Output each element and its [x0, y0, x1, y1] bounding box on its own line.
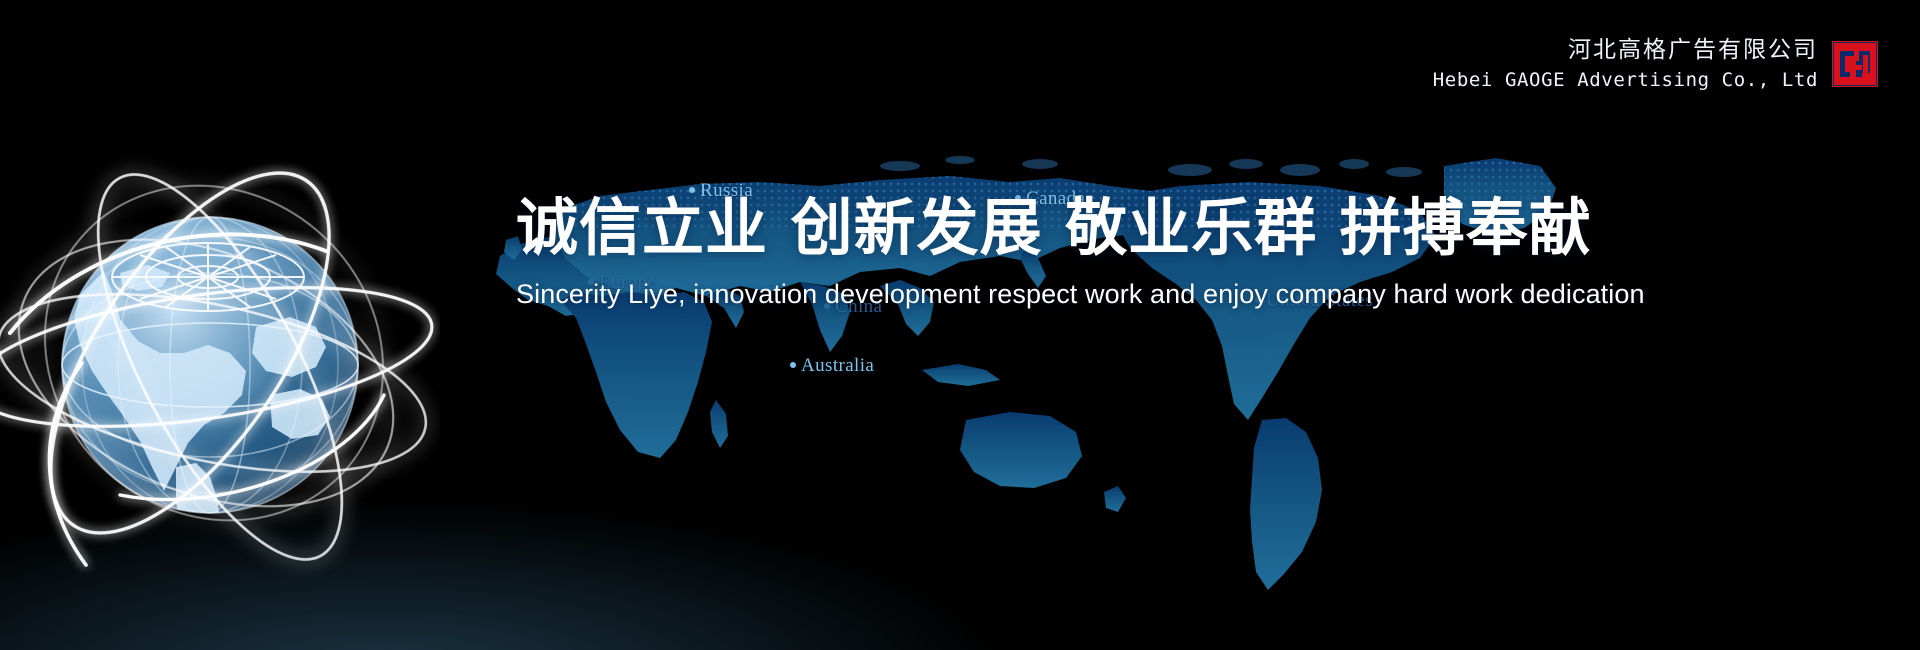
map-arctic-islands — [880, 156, 1422, 177]
company-identity-block: 河北高格广告有限公司 Hebei GAOGE Advertising Co., … — [1433, 36, 1878, 93]
globe-continents — [74, 265, 330, 569]
slogan-chinese: 诚信立业 创新发展 敬业乐群 拼搏奉献 — [516, 196, 1876, 259]
company-name-cn: 河北高格广告有限公司 — [1433, 36, 1818, 65]
company-banner: Russia Canada Europe China United States… — [0, 0, 1920, 650]
globe-polar-web — [112, 243, 304, 311]
map-label-australia: Australia — [790, 355, 874, 377]
world-map-background — [0, 0, 1920, 650]
globe-orbit-rings — [0, 116, 440, 592]
map-marker-dot — [790, 362, 796, 368]
globe-sphere — [62, 217, 358, 513]
slogan-block: 诚信立业 创新发展 敬业乐群 拼搏奉献 Sincerity Liye, inno… — [516, 196, 1876, 310]
globe-orbit-highlights — [10, 234, 384, 565]
gaoge-logo-icon — [1832, 41, 1878, 87]
company-name-en: Hebei GAOGE Advertising Co., Ltd — [1433, 68, 1818, 92]
bottom-glow — [0, 330, 1920, 650]
globe-network-graphic — [0, 95, 440, 595]
company-name-group: 河北高格广告有限公司 Hebei GAOGE Advertising Co., … — [1433, 36, 1818, 93]
slogan-english: Sincerity Liye, innovation development r… — [516, 279, 1876, 310]
globe-grid — [62, 217, 358, 513]
